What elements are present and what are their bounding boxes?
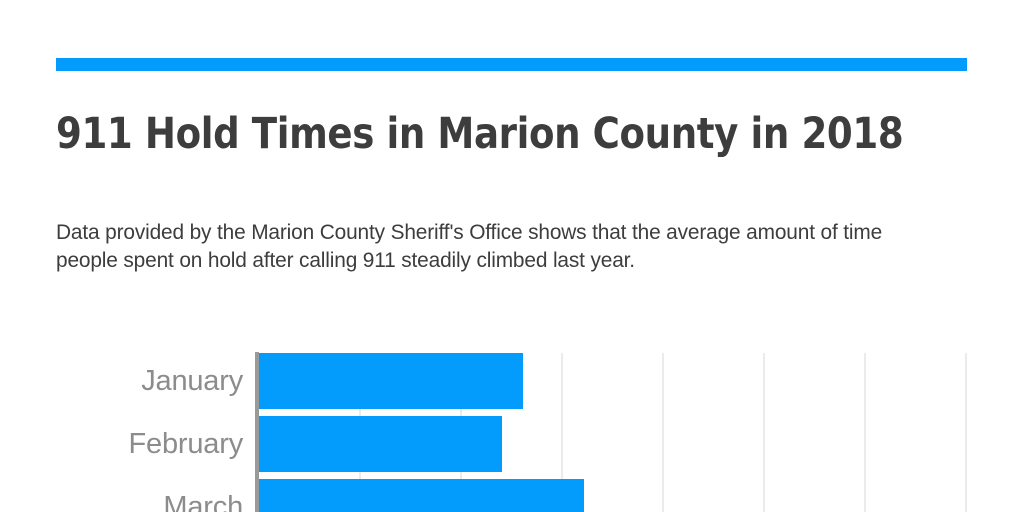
axis-label-january: January [141, 353, 243, 409]
page-title: 911 Hold Times in Marion County in 2018 [56, 108, 939, 160]
bar-march [259, 479, 584, 512]
axis-label-march: March [163, 479, 243, 512]
article-page: 911 Hold Times in Marion County in 2018 … [0, 0, 1024, 512]
gridline [864, 353, 866, 512]
axis-label-february: February [129, 416, 243, 472]
bar-chart: January February March [0, 340, 1024, 512]
axis-row: January [0, 353, 243, 409]
axis-row: February [0, 416, 243, 472]
gridline [763, 353, 765, 512]
gridline [965, 353, 967, 512]
gridline [662, 353, 664, 512]
chart-plot-area [259, 353, 1024, 512]
accent-rule [56, 58, 967, 71]
bar-february [259, 416, 502, 472]
bar-january [259, 353, 523, 409]
category-axis-labels: January February March [0, 353, 243, 512]
article-deck: Data provided by the Marion County Sheri… [56, 218, 941, 274]
axis-row: March [0, 479, 243, 512]
